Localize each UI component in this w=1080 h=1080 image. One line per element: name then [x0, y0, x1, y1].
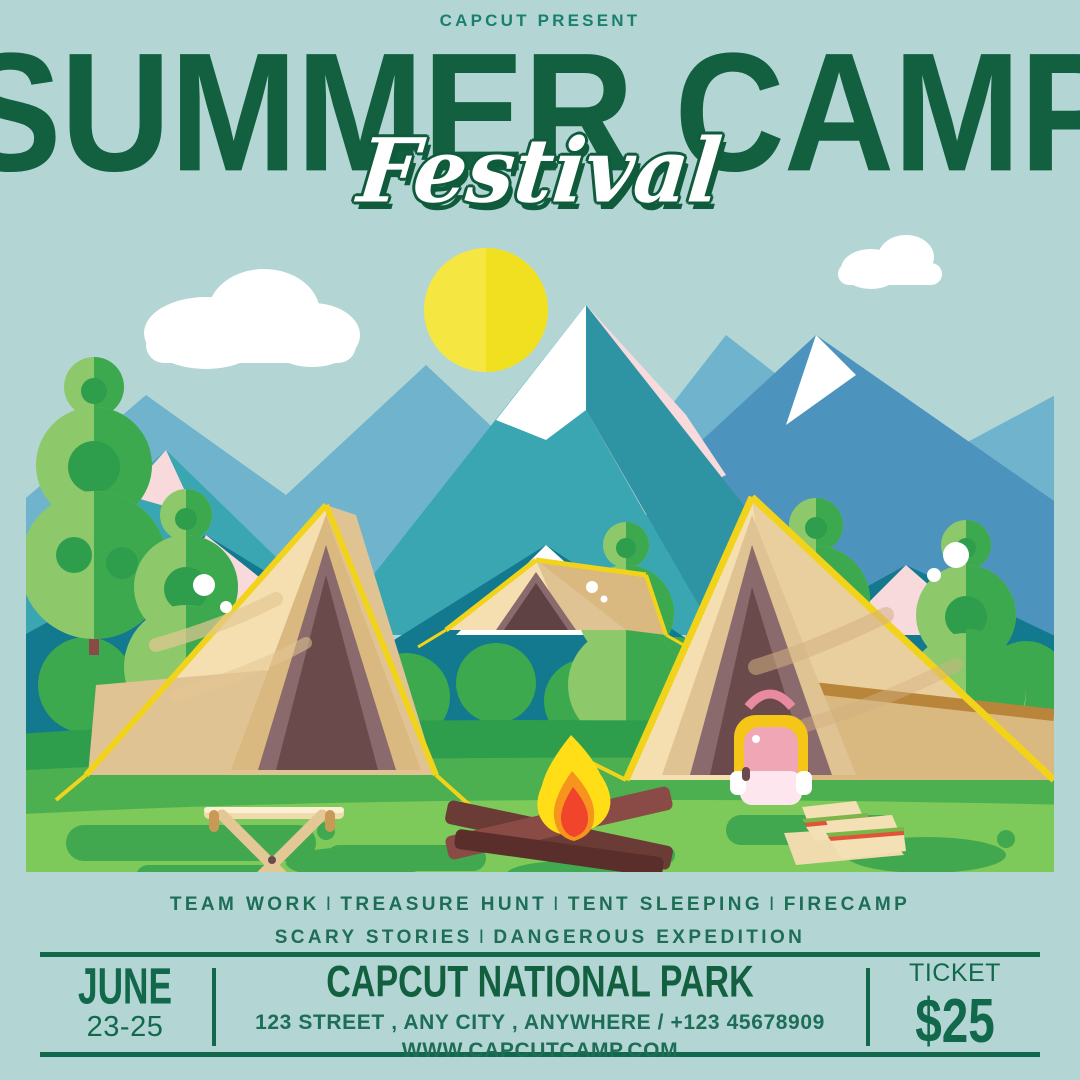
sandwich-front [826, 815, 906, 859]
activity-item: TREASURE HUNT [340, 894, 547, 915]
ticket-price: $25 [879, 990, 1032, 1054]
event-date: JUNE 23-25 [40, 962, 210, 1044]
activity-separator: I [763, 894, 784, 915]
activity-item: TENT SLEEPING [568, 894, 763, 915]
activities-line-1: TEAM WORKITREASURE HUNTITENT SLEEPINGIFI… [0, 888, 1080, 921]
camp-illustration [26, 215, 1054, 872]
activity-separator: I [473, 927, 494, 948]
ticket-label: TICKET [870, 958, 1040, 988]
activity-item: FIRECAMP [784, 894, 910, 915]
activities-line-2: SCARY STORIESIDANGEROUS EXPEDITION [0, 921, 1080, 954]
activity-separator: I [320, 894, 341, 915]
event-month: JUNE [55, 962, 194, 1012]
page-title: SUMMER CAMP [0, 36, 1080, 190]
activities-list: TEAM WORKITREASURE HUNTITENT SLEEPINGIFI… [0, 888, 1080, 954]
venue-website[interactable]: WWW.CAPCUTCAMP.COM [216, 1037, 864, 1064]
activity-separator: I [547, 894, 568, 915]
poster: CAPCUT PRESENT SUMMER CAMP Festival [0, 0, 1080, 1080]
scene-svg [26, 215, 1054, 872]
ticket-info: TICKET $25 [870, 958, 1040, 1044]
activity-item: SCARY STORIES [275, 927, 473, 948]
venue-name: CAPCUT NATIONAL PARK [242, 958, 838, 1006]
activity-item: TEAM WORK [170, 894, 320, 915]
venue-address: 123 STREET , ANY CITY , ANYWHERE / +123 … [216, 1008, 864, 1037]
venue-info: CAPCUT NATIONAL PARK 123 STREET , ANY CI… [216, 958, 864, 1064]
activity-item: DANGEROUS EXPEDITION [493, 927, 805, 948]
